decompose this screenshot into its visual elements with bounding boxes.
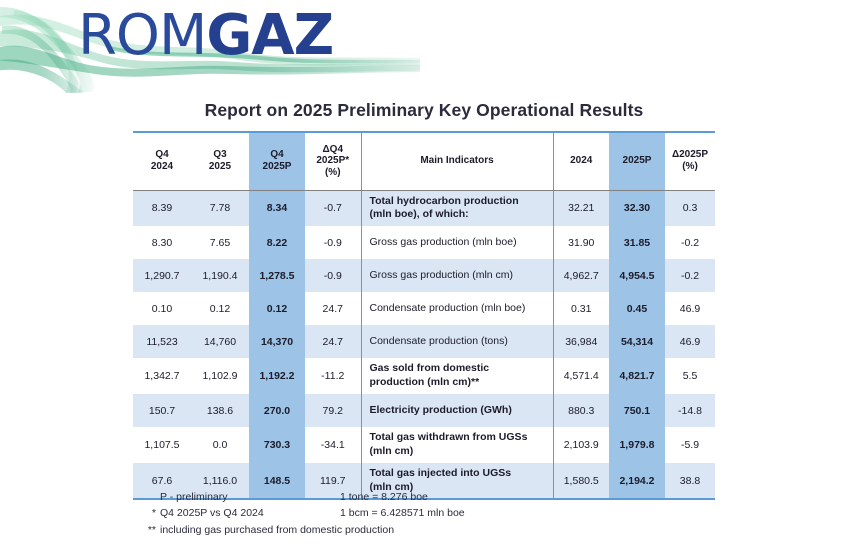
- cell-q4-2024: 8.30: [133, 226, 191, 259]
- cell-q4-2025p: 730.3: [249, 427, 305, 463]
- footnote-2-left: Q4 2025P vs Q4 2024: [160, 505, 340, 521]
- cell-2024: 32.21: [553, 190, 609, 226]
- footnote-2-mark: *: [140, 505, 160, 521]
- cell-delta-2025p: -0.2: [665, 259, 715, 292]
- cell-2025p: 750.1: [609, 394, 665, 427]
- cell-2025p: 0.45: [609, 292, 665, 325]
- indicator-line-1: Gross gas production (mln cm): [370, 269, 549, 283]
- cell-delta-2025p: -5.9: [665, 427, 715, 463]
- cell-q4-2025p: 1,278.5: [249, 259, 305, 292]
- cell-2024: 880.3: [553, 394, 609, 427]
- footnote-row-3: ** including gas purchased from domestic…: [140, 522, 740, 538]
- footnote-3-text: including gas purchased from domestic pr…: [160, 522, 394, 538]
- cell-2025p: 4,821.7: [609, 358, 665, 394]
- cell-delta-2025p: 5.5: [665, 358, 715, 394]
- logo-text-rom: ROM: [78, 3, 206, 68]
- footnote-1-mark: [140, 489, 160, 505]
- cell-q3-2025: 14,760: [191, 325, 249, 358]
- cell-q3-2025: 7.78: [191, 190, 249, 226]
- cell-delta-q4: -0.7: [305, 190, 361, 226]
- cell-q3-2025: 1,190.4: [191, 259, 249, 292]
- cell-main-indicator: Gross gas production (mln cm): [361, 259, 553, 292]
- cell-q4-2025p: 270.0: [249, 394, 305, 427]
- cell-delta-q4: -34.1: [305, 427, 361, 463]
- col-header-q4-2025p-line1: Q4: [249, 149, 305, 161]
- indicator-line-1: Gross gas production (mln boe): [370, 236, 549, 250]
- col-header-q4-2024-line2: 2024: [133, 161, 191, 173]
- table-header: Q4 2024 Q3 2025 Q4 2025P ΔQ4 2025P* (%) …: [133, 132, 715, 190]
- footnote-1-left: P - preliminary: [160, 489, 340, 505]
- indicator-line-2: production (mln cm)**: [370, 376, 549, 390]
- cell-2024: 2,103.9: [553, 427, 609, 463]
- indicator-line-1: Total gas withdrawn from UGSs: [370, 431, 549, 445]
- col-header-q3-2025-line1: Q3: [191, 149, 249, 161]
- cell-q4-2024: 1,290.7: [133, 259, 191, 292]
- cell-delta-2025p: 46.9: [665, 292, 715, 325]
- cell-main-indicator: Condensate production (mln boe): [361, 292, 553, 325]
- cell-main-indicator: Gas sold from domesticproduction (mln cm…: [361, 358, 553, 394]
- col-header-2025p: 2025P: [609, 132, 665, 190]
- footnote-1-right: 1 tone = 8.276 boe: [340, 489, 428, 505]
- col-header-main-indicators: Main Indicators: [361, 132, 553, 190]
- page-title: Report on 2025 Preliminary Key Operation…: [133, 100, 715, 121]
- indicator-line-1: Gas sold from domestic: [370, 362, 549, 376]
- cell-delta-q4: 79.2: [305, 394, 361, 427]
- cell-q4-2024: 150.7: [133, 394, 191, 427]
- indicator-line-1: Condensate production (mln boe): [370, 302, 549, 316]
- cell-q4-2024: 1,107.5: [133, 427, 191, 463]
- cell-delta-q4: -0.9: [305, 226, 361, 259]
- cell-2025p: 4,954.5: [609, 259, 665, 292]
- col-header-delta-2025p: Δ2025P (%): [665, 132, 715, 190]
- cell-q4-2025p: 14,370: [249, 325, 305, 358]
- table-header-row: Q4 2024 Q3 2025 Q4 2025P ΔQ4 2025P* (%) …: [133, 132, 715, 190]
- cell-delta-q4: 24.7: [305, 325, 361, 358]
- col-header-q4-2024-line1: Q4: [133, 149, 191, 161]
- col-header-delta-q4-2025p: ΔQ4 2025P* (%): [305, 132, 361, 190]
- cell-2024: 4,571.4: [553, 358, 609, 394]
- table-row: 8.397.788.34-0.7Total hydrocarbon produc…: [133, 190, 715, 226]
- table-row: 1,342.71,102.91,192.2-11.2Gas sold from …: [133, 358, 715, 394]
- footnote-row-1: P - preliminary 1 tone = 8.276 boe: [140, 489, 740, 505]
- cell-delta-2025p: 46.9: [665, 325, 715, 358]
- cell-delta-2025p: -14.8: [665, 394, 715, 427]
- cell-q4-2025p: 8.22: [249, 226, 305, 259]
- table-row: 150.7138.6270.079.2Electricity productio…: [133, 394, 715, 427]
- cell-main-indicator: Gross gas production (mln boe): [361, 226, 553, 259]
- col-header-q4-2024: Q4 2024: [133, 132, 191, 190]
- romgaz-logo: ROMGAZ: [78, 8, 333, 64]
- operational-results-table: Q4 2024 Q3 2025 Q4 2025P ΔQ4 2025P* (%) …: [133, 131, 715, 500]
- cell-main-indicator: Condensate production (tons): [361, 325, 553, 358]
- col-header-delta-q4-line3: (%): [305, 167, 361, 179]
- cell-main-indicator: Total gas withdrawn from UGSs(mln cm): [361, 427, 553, 463]
- table-body: 8.397.788.34-0.7Total hydrocarbon produc…: [133, 190, 715, 499]
- logo-text-gaz: GAZ: [206, 3, 333, 68]
- indicator-line-1: Condensate production (tons): [370, 335, 549, 349]
- cell-2025p: 31.85: [609, 226, 665, 259]
- cell-2024: 31.90: [553, 226, 609, 259]
- col-header-2024: 2024: [553, 132, 609, 190]
- col-header-q3-2025: Q3 2025: [191, 132, 249, 190]
- table-row: 0.100.120.1224.7Condensate production (m…: [133, 292, 715, 325]
- indicator-line-2: (mln boe), of which:: [370, 208, 549, 222]
- cell-delta-2025p: -0.2: [665, 226, 715, 259]
- footnotes: P - preliminary 1 tone = 8.276 boe * Q4 …: [140, 489, 740, 538]
- footnote-2-right: 1 bcm = 6.428571 mln boe: [340, 505, 465, 521]
- cell-q4-2024: 11,523: [133, 325, 191, 358]
- indicator-line-1: Total hydrocarbon production: [370, 195, 549, 209]
- cell-2025p: 32.30: [609, 190, 665, 226]
- indicator-line-1: Electricity production (GWh): [370, 404, 549, 418]
- cell-delta-q4: 24.7: [305, 292, 361, 325]
- table-row: 1,290.71,190.41,278.5-0.9Gross gas produ…: [133, 259, 715, 292]
- cell-q3-2025: 1,102.9: [191, 358, 249, 394]
- cell-2024: 36,984: [553, 325, 609, 358]
- cell-main-indicator: Electricity production (GWh): [361, 394, 553, 427]
- col-header-q3-2025-line2: 2025: [191, 161, 249, 173]
- footnote-row-2: * Q4 2025P vs Q4 2024 1 bcm = 6.428571 m…: [140, 505, 740, 521]
- cell-q3-2025: 138.6: [191, 394, 249, 427]
- cell-q4-2024: 0.10: [133, 292, 191, 325]
- col-header-delta-2025p-line2: (%): [665, 161, 715, 173]
- cell-delta-q4: -11.2: [305, 358, 361, 394]
- col-header-q4-2025p: Q4 2025P: [249, 132, 305, 190]
- cell-2024: 4,962.7: [553, 259, 609, 292]
- indicator-line-1: Total gas injected into UGSs: [370, 467, 549, 481]
- cell-delta-q4: -0.9: [305, 259, 361, 292]
- table-row: 1,107.50.0730.3-34.1Total gas withdrawn …: [133, 427, 715, 463]
- cell-2024: 0.31: [553, 292, 609, 325]
- table-row: 11,52314,76014,37024.7Condensate product…: [133, 325, 715, 358]
- cell-q3-2025: 7.65: [191, 226, 249, 259]
- cell-main-indicator: Total hydrocarbon production(mln boe), o…: [361, 190, 553, 226]
- logo-band: ROMGAZ: [0, 0, 850, 95]
- cell-2025p: 54,314: [609, 325, 665, 358]
- cell-q3-2025: 0.12: [191, 292, 249, 325]
- indicator-line-2: (mln cm): [370, 445, 549, 459]
- col-header-delta-q4-line2: 2025P*: [305, 155, 361, 167]
- footnote-3-mark: **: [140, 522, 160, 538]
- cell-q4-2025p: 1,192.2: [249, 358, 305, 394]
- col-header-delta-2025p-line1: Δ2025P: [665, 149, 715, 161]
- table-row: 8.307.658.22-0.9Gross gas production (ml…: [133, 226, 715, 259]
- cell-q4-2025p: 8.34: [249, 190, 305, 226]
- col-header-delta-q4-line1: ΔQ4: [305, 144, 361, 156]
- cell-q4-2024: 8.39: [133, 190, 191, 226]
- cell-q3-2025: 0.0: [191, 427, 249, 463]
- col-header-q4-2025p-line2: 2025P: [249, 161, 305, 173]
- cell-delta-2025p: 0.3: [665, 190, 715, 226]
- cell-q4-2025p: 0.12: [249, 292, 305, 325]
- cell-q4-2024: 1,342.7: [133, 358, 191, 394]
- cell-2025p: 1,979.8: [609, 427, 665, 463]
